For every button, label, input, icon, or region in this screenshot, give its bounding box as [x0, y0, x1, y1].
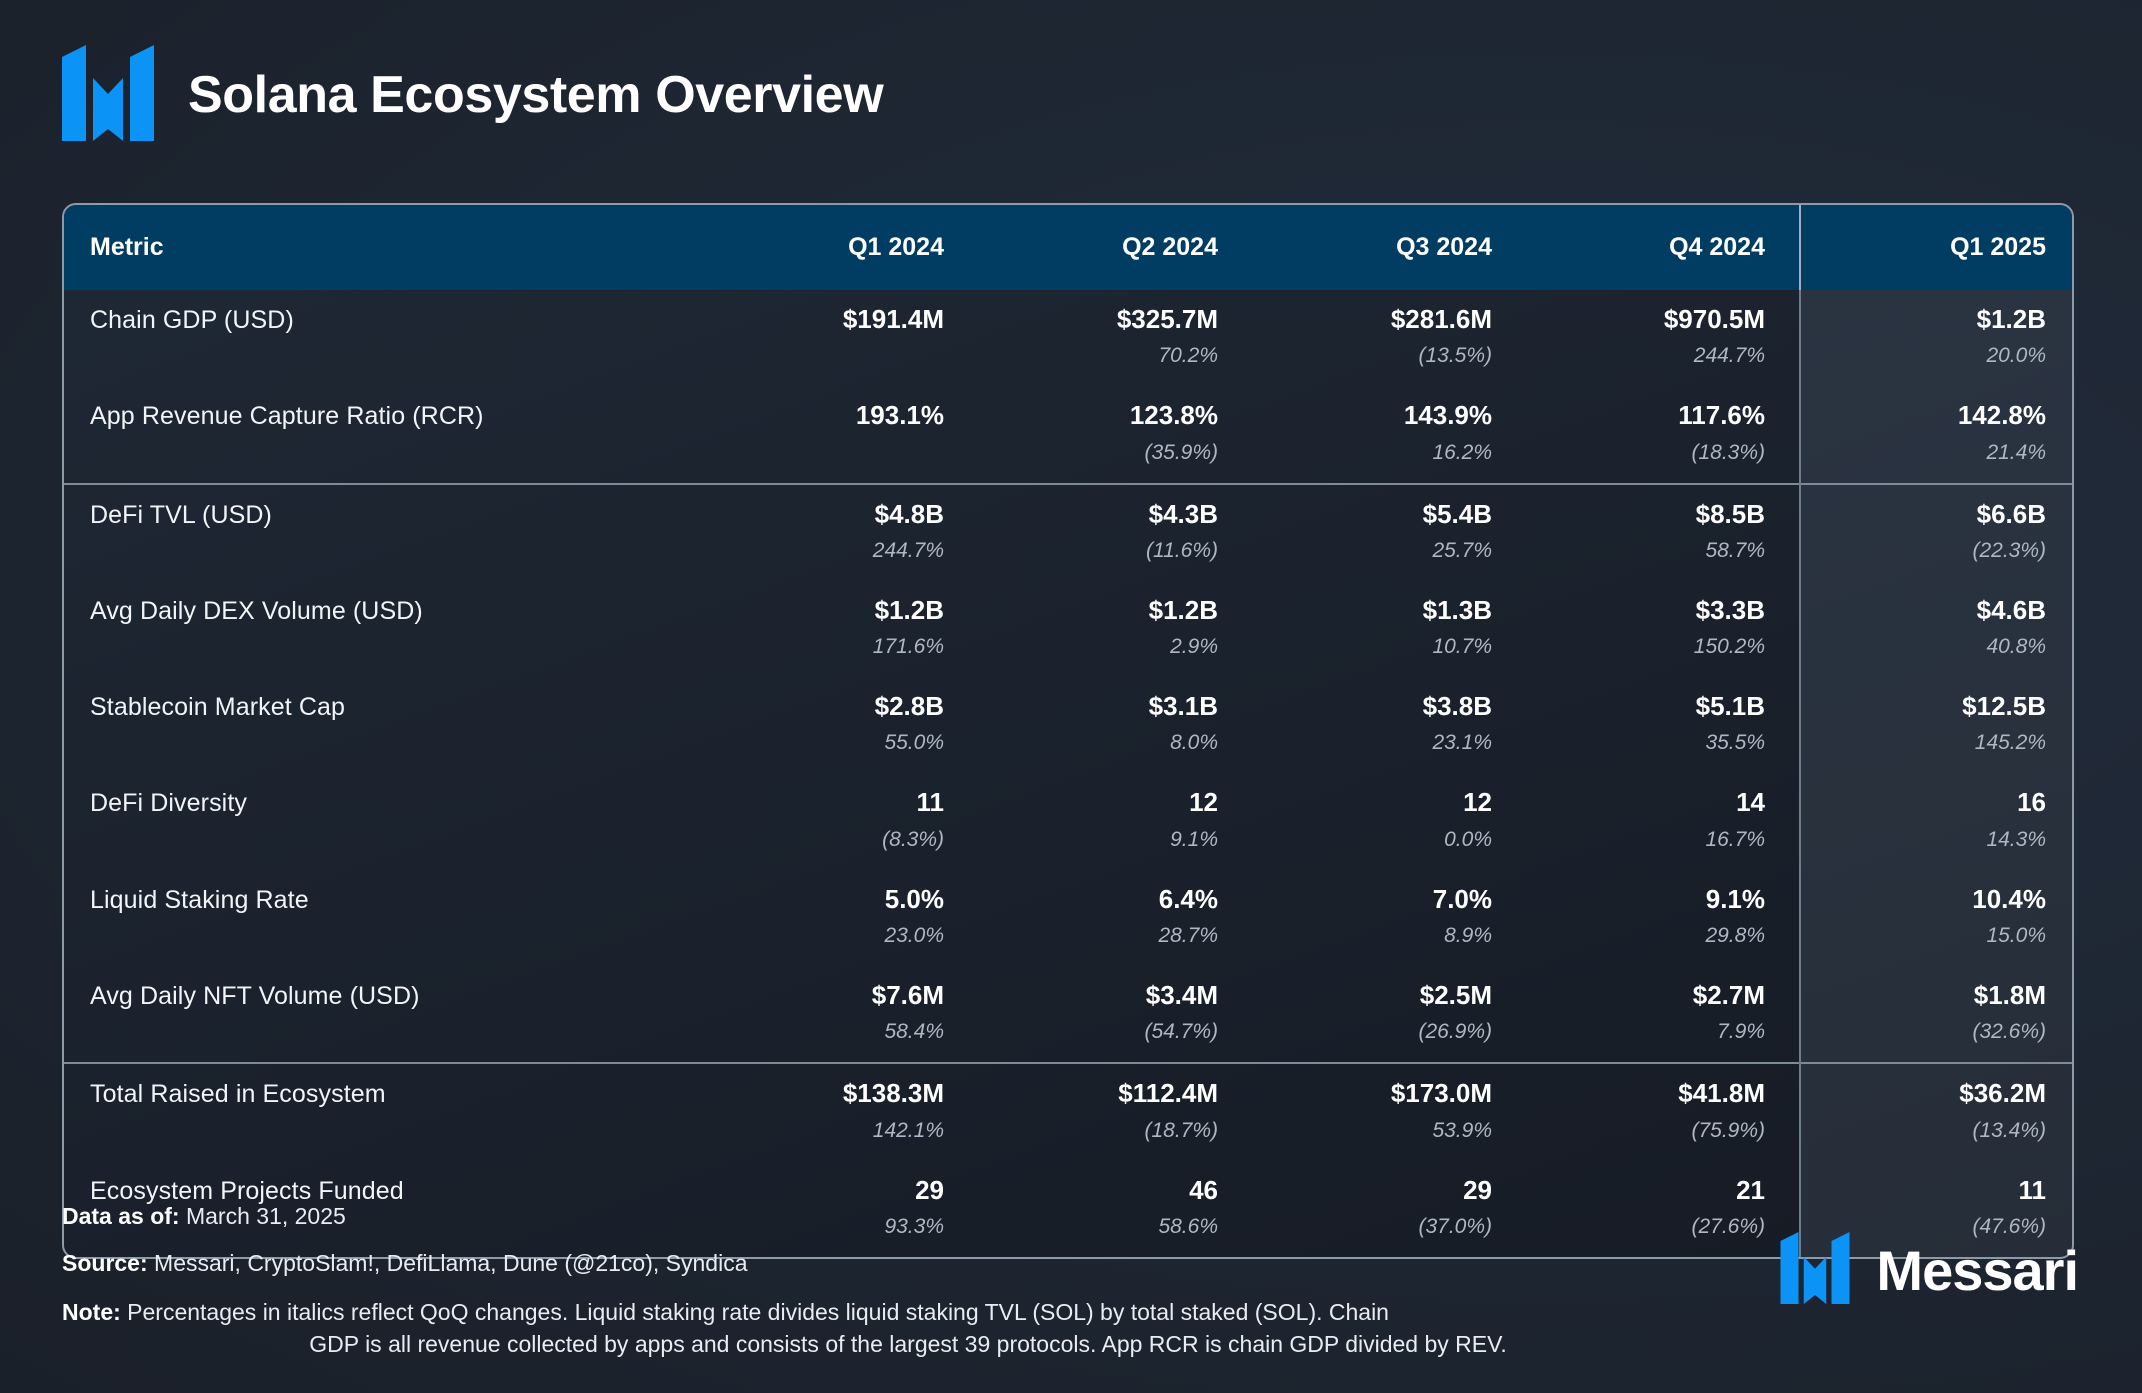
metric-cell: $970.5M244.7% [1526, 290, 1800, 386]
metric-cell: 11(8.3%) [704, 773, 978, 869]
metric-change: (35.9%) [1012, 442, 1218, 463]
metric-value: 10.4% [1835, 886, 2046, 913]
column-header-q1-2025: Q1 2025 [1800, 205, 2074, 290]
page-header: Solana Ecosystem Overview [0, 0, 2142, 150]
metric-value: $5.1B [1560, 693, 1765, 720]
metric-cell: 1416.7% [1526, 773, 1800, 869]
metric-cell: $6.6B(22.3%) [1800, 484, 2074, 581]
metric-change: (54.7%) [1012, 1021, 1218, 1042]
metric-cell: 117.6%(18.3%) [1526, 386, 1800, 483]
metric-label: App Revenue Capture Ratio (RCR) [64, 386, 704, 483]
metric-change: 8.9% [1286, 925, 1492, 946]
metric-value: $173.0M [1286, 1080, 1492, 1107]
metric-change: 145.2% [1835, 732, 2046, 753]
metric-value: $138.3M [738, 1080, 944, 1107]
metric-cell: 143.9%16.2% [1252, 386, 1526, 483]
source-label: Source: [62, 1250, 148, 1276]
metric-change: (75.9%) [1560, 1120, 1765, 1141]
metric-cell: $191.4M [704, 290, 978, 386]
metric-change: 53.9% [1286, 1120, 1492, 1141]
metric-value: $3.8B [1286, 693, 1492, 720]
metric-change: 70.2% [1012, 345, 1218, 366]
metric-value: $1.2B [1012, 597, 1218, 624]
metric-cell: $1.2B171.6% [704, 581, 978, 677]
metric-cell: $5.4B25.7% [1252, 484, 1526, 581]
metric-change: 23.1% [1286, 732, 1492, 753]
metric-value: $2.7M [1560, 982, 1765, 1009]
metric-cell: $36.2M(13.4%) [1800, 1063, 2074, 1160]
metric-change: 150.2% [1560, 636, 1765, 657]
metric-cell: $5.1B35.5% [1526, 677, 1800, 773]
metric-cell: $8.5B58.7% [1526, 484, 1800, 581]
metric-value: $4.8B [738, 501, 944, 528]
metric-value: $1.3B [1286, 597, 1492, 624]
metric-cell: 7.0%8.9% [1252, 870, 1526, 966]
metric-cell: $325.7M70.2% [978, 290, 1252, 386]
metric-cell: 193.1% [704, 386, 978, 483]
metric-change: (13.4%) [1835, 1120, 2046, 1141]
metric-change: 16.7% [1560, 829, 1765, 850]
metric-value: $2.5M [1286, 982, 1492, 1009]
metric-label: DeFi TVL (USD) [64, 484, 704, 581]
metric-value: 6.4% [1012, 886, 1218, 913]
metric-value: 12 [1012, 789, 1218, 816]
metric-value: $3.1B [1012, 693, 1218, 720]
metric-cell: $1.2B2.9% [978, 581, 1252, 677]
metric-cell: $7.6M58.4% [704, 966, 978, 1063]
note-line: Note: Percentages in italics reflect QoQ… [62, 1296, 1702, 1361]
table-row: App Revenue Capture Ratio (RCR)193.1%123… [64, 386, 2074, 483]
metric-change: 244.7% [738, 540, 944, 561]
metric-cell: $3.3B150.2% [1526, 581, 1800, 677]
metric-label: Liquid Staking Rate [64, 870, 704, 966]
metric-cell: $12.5B145.2% [1800, 677, 2074, 773]
metric-change: (18.3%) [1560, 442, 1765, 463]
metric-value: 46 [1012, 1177, 1218, 1204]
metrics-table: Metric Q1 2024 Q2 2024 Q3 2024 Q4 2024 Q… [64, 205, 2074, 1257]
column-header-q1-2024: Q1 2024 [704, 205, 978, 290]
metrics-table-card: Metric Q1 2024 Q2 2024 Q3 2024 Q4 2024 Q… [62, 203, 2074, 1259]
data-as-of-label: Data as of: [62, 1203, 180, 1229]
metric-value: $112.4M [1012, 1080, 1218, 1107]
metric-change: 58.4% [738, 1021, 944, 1042]
metric-cell: 1614.3% [1800, 773, 2074, 869]
metric-value: 123.8% [1012, 402, 1218, 429]
metric-change [738, 345, 944, 366]
metric-cell: 5.0%23.0% [704, 870, 978, 966]
metric-cell: $2.8B55.0% [704, 677, 978, 773]
table-row: Total Raised in Ecosystem$138.3M142.1%$1… [64, 1063, 2074, 1160]
metric-value: 12 [1286, 789, 1492, 816]
metric-cell: $281.6M(13.5%) [1252, 290, 1526, 386]
column-header-q4-2024: Q4 2024 [1526, 205, 1800, 290]
table-row: DeFi Diversity11(8.3%)129.1%120.0%1416.7… [64, 773, 2074, 869]
metric-change: 20.0% [1835, 345, 2046, 366]
metric-value: 29 [738, 1177, 944, 1204]
source-value: Messari, CryptoSlam!, DefiLlama, Dune (@… [154, 1250, 747, 1276]
metric-cell: 129.1% [978, 773, 1252, 869]
column-header-metric: Metric [64, 205, 704, 290]
metric-change: 171.6% [738, 636, 944, 657]
metric-cell: $1.8M(32.6%) [1800, 966, 2074, 1063]
metric-change: 21.4% [1835, 442, 2046, 463]
table-body: Chain GDP (USD)$191.4M$325.7M70.2%$281.6… [64, 290, 2074, 1257]
metric-value: $325.7M [1012, 306, 1218, 333]
metric-change: 35.5% [1560, 732, 1765, 753]
metric-cell: $3.4M(54.7%) [978, 966, 1252, 1063]
table-header: Metric Q1 2024 Q2 2024 Q3 2024 Q4 2024 Q… [64, 205, 2074, 290]
metric-change: 29.8% [1560, 925, 1765, 946]
table-row: Liquid Staking Rate5.0%23.0%6.4%28.7%7.0… [64, 870, 2074, 966]
metric-change: 0.0% [1286, 829, 1492, 850]
metric-label: Total Raised in Ecosystem [64, 1063, 704, 1160]
metric-value: 9.1% [1560, 886, 1765, 913]
page-title: Solana Ecosystem Overview [188, 65, 883, 125]
metric-cell: $4.3B(11.6%) [978, 484, 1252, 581]
messari-m-logo-icon [62, 45, 154, 146]
metric-value: $4.6B [1835, 597, 2046, 624]
metric-value: 142.8% [1835, 402, 2046, 429]
metric-cell: $3.8B23.1% [1252, 677, 1526, 773]
metric-cell: $112.4M(18.7%) [978, 1063, 1252, 1160]
metric-cell: 120.0% [1252, 773, 1526, 869]
metric-change [738, 442, 944, 463]
brand-wordmark: Messari [1876, 1238, 2078, 1303]
metric-cell: 142.8%21.4% [1800, 386, 2074, 483]
metric-value: $3.3B [1560, 597, 1765, 624]
metric-value: 117.6% [1560, 402, 1765, 429]
metric-change: 58.7% [1560, 540, 1765, 561]
metric-value: 143.9% [1286, 402, 1492, 429]
metric-value: $970.5M [1560, 306, 1765, 333]
metric-label: Avg Daily DEX Volume (USD) [64, 581, 704, 677]
metric-cell: $138.3M142.1% [704, 1063, 978, 1160]
metric-value: $8.5B [1560, 501, 1765, 528]
metric-change: 23.0% [738, 925, 944, 946]
metric-cell: $1.3B10.7% [1252, 581, 1526, 677]
source-line: Source: Messari, CryptoSlam!, DefiLlama,… [62, 1249, 1762, 1278]
metric-change: 244.7% [1560, 345, 1765, 366]
metric-value: 193.1% [738, 402, 944, 429]
metric-label: Stablecoin Market Cap [64, 677, 704, 773]
footer-notes: Data as of: March 31, 2025 Source: Messa… [62, 1202, 1762, 1361]
metric-label: Chain GDP (USD) [64, 290, 704, 386]
metric-change: 15.0% [1835, 925, 2046, 946]
table-row: DeFi TVL (USD)$4.8B244.7%$4.3B(11.6%)$5.… [64, 484, 2074, 581]
note-text-line-2: GDP is all revenue collected by apps and… [62, 1328, 1702, 1361]
metric-change: 16.2% [1286, 442, 1492, 463]
metric-cell: 9.1%29.8% [1526, 870, 1800, 966]
metric-value: 16 [1835, 789, 2046, 816]
metric-change: (26.9%) [1286, 1021, 1492, 1042]
metric-change: 9.1% [1012, 829, 1218, 850]
metric-change: 142.1% [738, 1120, 944, 1141]
metric-value: $3.4M [1012, 982, 1218, 1009]
data-as-of-value: March 31, 2025 [186, 1203, 346, 1229]
metric-value: $36.2M [1835, 1080, 2046, 1107]
footer-brand: Messari [1776, 1232, 2078, 1309]
table-header-row: Metric Q1 2024 Q2 2024 Q3 2024 Q4 2024 Q… [64, 205, 2074, 290]
metric-cell: $2.7M7.9% [1526, 966, 1800, 1063]
metric-value: $191.4M [738, 306, 944, 333]
metric-change: 40.8% [1835, 636, 2046, 657]
table-row: Stablecoin Market Cap$2.8B55.0%$3.1B8.0%… [64, 677, 2074, 773]
metric-value: $41.8M [1560, 1080, 1765, 1107]
metric-value: 5.0% [738, 886, 944, 913]
metric-change: (22.3%) [1835, 540, 2046, 561]
metric-value: 14 [1560, 789, 1765, 816]
note-text-line-1: Percentages in italics reflect QoQ chang… [127, 1299, 1389, 1325]
metric-cell: 10.4%15.0% [1800, 870, 2074, 966]
metric-change: (11.6%) [1012, 540, 1218, 561]
metric-change: 28.7% [1012, 925, 1218, 946]
metric-change: 55.0% [738, 732, 944, 753]
metric-value: $1.2B [738, 597, 944, 624]
metric-value: 29 [1286, 1177, 1492, 1204]
metric-change: 10.7% [1286, 636, 1492, 657]
metric-change: 25.7% [1286, 540, 1492, 561]
metric-value: $12.5B [1835, 693, 2046, 720]
metric-change: 8.0% [1012, 732, 1218, 753]
metric-change: 7.9% [1560, 1021, 1765, 1042]
metric-value: 11 [1835, 1177, 2046, 1204]
metric-value: $1.2B [1835, 306, 2046, 333]
metric-value: $7.6M [738, 982, 944, 1009]
metric-value: $4.3B [1012, 501, 1218, 528]
metric-value: $281.6M [1286, 306, 1492, 333]
metric-value: 21 [1560, 1177, 1765, 1204]
metric-value: 7.0% [1286, 886, 1492, 913]
table-row: Chain GDP (USD)$191.4M$325.7M70.2%$281.6… [64, 290, 2074, 386]
metric-cell: $41.8M(75.9%) [1526, 1063, 1800, 1160]
metric-cell: $2.5M(26.9%) [1252, 966, 1526, 1063]
metric-cell: $4.6B40.8% [1800, 581, 2074, 677]
data-as-of-line: Data as of: March 31, 2025 [62, 1202, 1762, 1231]
messari-m-logo-icon-footer [1776, 1232, 1854, 1309]
metric-cell: $3.1B8.0% [978, 677, 1252, 773]
metric-value: $5.4B [1286, 501, 1492, 528]
metric-label: Avg Daily NFT Volume (USD) [64, 966, 704, 1063]
metric-change: (32.6%) [1835, 1021, 2046, 1042]
metric-change: (8.3%) [738, 829, 944, 850]
column-header-q3-2024: Q3 2024 [1252, 205, 1526, 290]
metric-value: 11 [738, 789, 944, 816]
metric-cell: 6.4%28.7% [978, 870, 1252, 966]
metric-cell: $1.2B20.0% [1800, 290, 2074, 386]
table-row: Avg Daily NFT Volume (USD)$7.6M58.4%$3.4… [64, 966, 2074, 1063]
metric-cell: $173.0M53.9% [1252, 1063, 1526, 1160]
metric-value: $1.8M [1835, 982, 2046, 1009]
metric-change: 14.3% [1835, 829, 2046, 850]
metric-cell: $4.8B244.7% [704, 484, 978, 581]
metric-label: DeFi Diversity [64, 773, 704, 869]
metric-cell: 123.8%(35.9%) [978, 386, 1252, 483]
metric-change: 2.9% [1012, 636, 1218, 657]
metric-change: (18.7%) [1012, 1120, 1218, 1141]
table-row: Avg Daily DEX Volume (USD)$1.2B171.6%$1.… [64, 581, 2074, 677]
metric-change: (13.5%) [1286, 345, 1492, 366]
metric-value: $6.6B [1835, 501, 2046, 528]
column-header-q2-2024: Q2 2024 [978, 205, 1252, 290]
note-label: Note: [62, 1299, 121, 1325]
metric-value: $2.8B [738, 693, 944, 720]
